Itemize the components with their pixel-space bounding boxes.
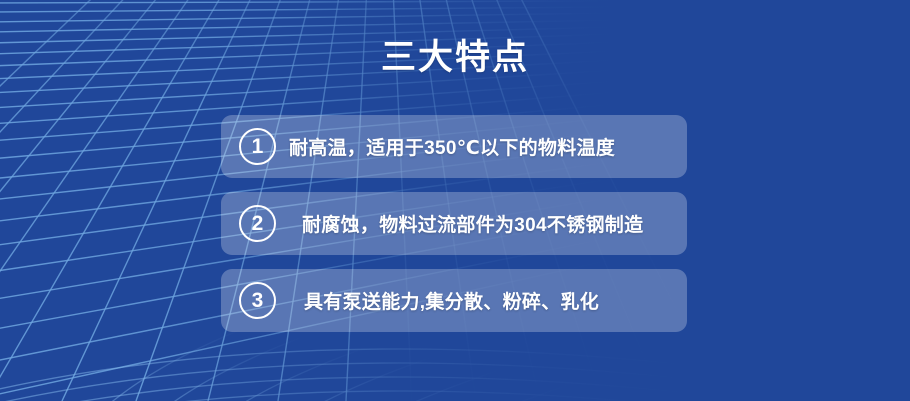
feature-item-2[interactable]: 2 耐腐蚀，物料过流部件为304不锈钢制造	[221, 192, 687, 255]
feature-list: 1 耐高温，适用于350℃以下的物料温度 2 耐腐蚀，物料过流部件为304不锈钢…	[221, 115, 687, 332]
feature-number-badge-3: 3	[239, 282, 276, 319]
feature-number-badge-2: 2	[239, 205, 276, 242]
feature-item-3[interactable]: 3 具有泵送能力,集分散、粉碎、乳化	[221, 269, 687, 332]
promo-banner: 三大特点 1 耐高温，适用于350℃以下的物料温度 2 耐腐蚀，物料过流部件为3…	[0, 0, 910, 401]
feature-text-3: 具有泵送能力,集分散、粉碎、乳化	[304, 287, 599, 314]
feature-number-badge-1: 1	[239, 128, 276, 165]
page-title: 三大特点	[0, 36, 910, 80]
feature-item-1[interactable]: 1 耐高温，适用于350℃以下的物料温度	[221, 115, 687, 178]
feature-text-1: 耐高温，适用于350℃以下的物料温度	[289, 133, 615, 160]
banner-content: 三大特点 1 耐高温，适用于350℃以下的物料温度 2 耐腐蚀，物料过流部件为3…	[0, 0, 910, 401]
feature-text-2: 耐腐蚀，物料过流部件为304不锈钢制造	[302, 210, 643, 237]
